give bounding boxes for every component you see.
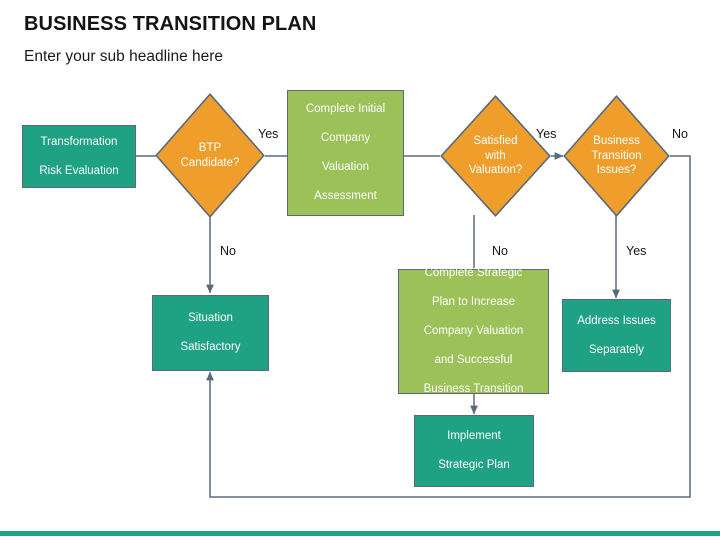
node-label: Address Issues Separately [567,314,666,357]
node-business-transition-issues[interactable]: Business Transition Issues? [563,95,670,217]
node-label: Implement Strategic Plan [428,429,520,472]
edge-label-valuation-no: No [492,244,508,258]
edge-label-valuation-yes: Yes [536,127,556,141]
node-btp-candidate[interactable]: BTP Candidate? [155,93,265,218]
connector-layer [0,0,720,540]
node-label: Satisfied with Valuation? [440,95,551,217]
node-label: BTP Candidate? [155,93,265,218]
node-label: Transformation Risk Evaluation [29,135,128,178]
edge-label-btp-yes: Yes [258,127,278,141]
page-subtitle: Enter your sub headline here [24,48,223,66]
node-implement-strategic-plan[interactable]: Implement Strategic Plan [414,415,534,487]
node-label: Situation Satisfactory [170,311,250,354]
node-situation-satisfactory[interactable]: Situation Satisfactory [152,295,269,371]
edge-label-btp-no: No [220,244,236,258]
page-title: BUSINESS TRANSITION PLAN [24,13,316,36]
edge-label-issues-yes: Yes [626,244,646,258]
edge-label-issues-no: No [672,127,688,141]
footer-accent-bar [0,531,720,536]
node-label: Complete Initial Company Valuation Asses… [296,102,395,203]
node-transformation-risk-evaluation[interactable]: Transformation Risk Evaluation [22,125,136,188]
slide-canvas: BUSINESS TRANSITION PLAN Enter your sub … [0,0,720,540]
node-label: Complete Strategic Plan to Increase Comp… [414,266,534,396]
node-address-issues-separately[interactable]: Address Issues Separately [562,299,671,372]
node-satisfied-with-valuation[interactable]: Satisfied with Valuation? [440,95,551,217]
node-complete-strategic-plan[interactable]: Complete Strategic Plan to Increase Comp… [398,269,549,394]
node-label: Business Transition Issues? [563,95,670,217]
node-complete-initial-company-valuation-assessment[interactable]: Complete Initial Company Valuation Asses… [287,90,404,216]
